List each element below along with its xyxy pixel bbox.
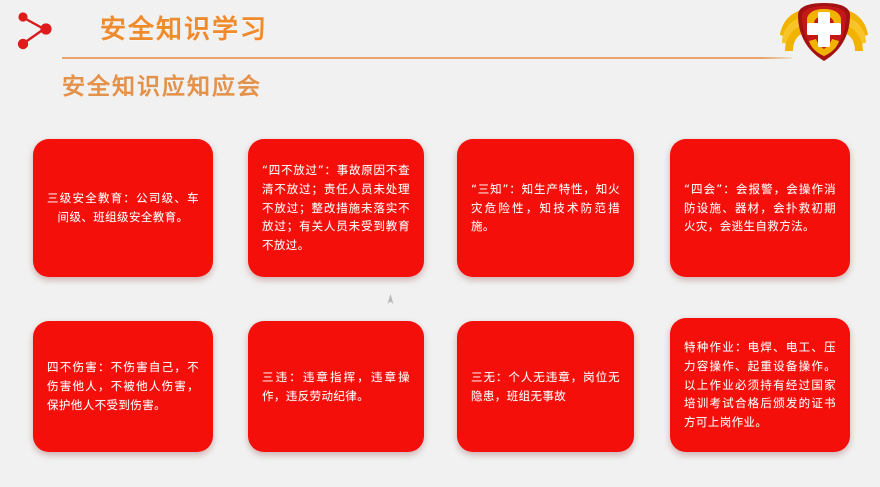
card-four-abilities[interactable]: “四会”：会报警，会操作消防设施、器材，会扑救初期火灾，会逃生自救方法。: [670, 139, 850, 277]
card-text: “三知”：知生产特性，知火灾危险性，知技术防范措施。: [457, 180, 634, 237]
card-text: 三级安全教育：公司级、车间级、班组级安全教育。: [33, 189, 213, 227]
card-text: 特种作业：电焊、电工、压力容操作、起重设备操作。以上作业必须持有经过国家培训考试…: [670, 338, 850, 433]
card-three-nones[interactable]: 三无：个人无违章，岗位无隐患，班组无事故: [457, 321, 634, 452]
card-text: “四不放过”：事故原因不查清不放过；责任人员未处理不放过；整改措施未落实不放过；…: [248, 161, 424, 256]
card-four-no-harm[interactable]: 四不伤害：不伤害自己，不伤害他人，不被他人伤害，保护他人不受到伤害。: [33, 321, 213, 452]
card-special-operations[interactable]: 特种作业：电焊、电工、压力容操作、起重设备操作。以上作业必须持有经过国家培训考试…: [670, 318, 850, 452]
card-text: “四会”：会报警，会操作消防设施、器材，会扑救初期火灾，会逃生自救方法。: [670, 180, 850, 237]
knowledge-card-grid: 三级安全教育：公司级、车间级、班组级安全教育。 “四不放过”：事故原因不查清不放…: [0, 0, 880, 487]
text-caret-cursor-icon: [386, 294, 395, 305]
card-text: 三无：个人无违章，岗位无隐患，班组无事故: [457, 368, 634, 406]
card-text: 三违：违章指挥，违章操作，违反劳动纪律。: [248, 368, 424, 406]
card-three-violations[interactable]: 三违：违章指挥，违章操作，违反劳动纪律。: [248, 321, 424, 452]
card-four-no-pass[interactable]: “四不放过”：事故原因不查清不放过；责任人员未处理不放过；整改措施未落实不放过；…: [248, 139, 424, 277]
slide-root: 安全知识学习: [0, 0, 880, 487]
card-three-knows[interactable]: “三知”：知生产特性，知火灾危险性，知技术防范措施。: [457, 139, 634, 277]
card-three-level-safety-education[interactable]: 三级安全教育：公司级、车间级、班组级安全教育。: [33, 139, 213, 277]
card-text: 四不伤害：不伤害自己，不伤害他人，不被他人伤害，保护他人不受到伤害。: [33, 358, 213, 415]
